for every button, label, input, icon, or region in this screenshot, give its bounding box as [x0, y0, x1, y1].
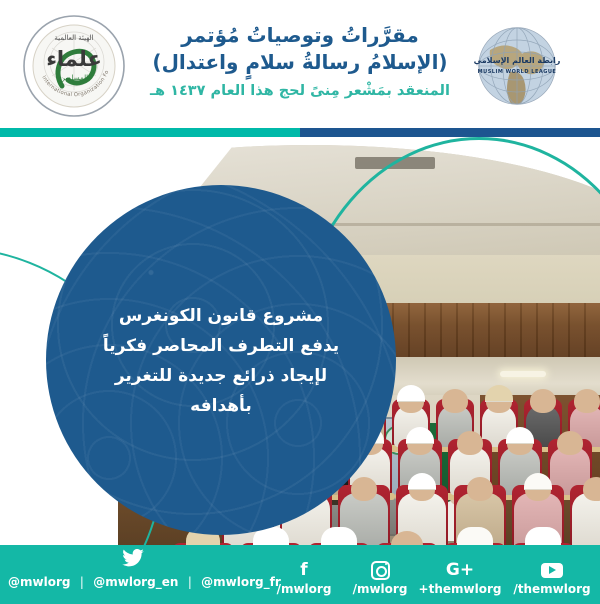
twitter-handle-en[interactable]: @mwlorg_en: [93, 575, 178, 589]
youtube-account[interactable]: /themwlorg: [506, 559, 598, 597]
attendee-head: [557, 431, 583, 455]
youtube-icon[interactable]: [506, 559, 598, 581]
header-subtitle: المنعقد بمَشْعر مِنىً لحج هذا العام ١٤٣٧…: [140, 80, 460, 102]
headline-text: مشروع قانون الكونغرس يدفع التطرف المحاصر…: [46, 301, 396, 421]
divider-blue-segment: [300, 128, 600, 137]
youtube-handle[interactable]: /themwlorg: [506, 581, 598, 597]
card-main-visual: واعتصموا بحبل: [0, 137, 600, 545]
attendee-cap: [457, 527, 493, 545]
attendee-head: [574, 389, 600, 413]
headline-line-4: بأهدافه: [72, 391, 370, 421]
attendee-cap: [485, 385, 513, 402]
attendee-head: [530, 389, 556, 413]
ceiling-lamp: [500, 371, 546, 377]
headline-line-1: مشروع قانون الكونغرس: [72, 301, 370, 331]
attendee-cap: [397, 385, 425, 402]
attendee-head: [457, 431, 483, 455]
headline-callout-circle: مشروع قانون الكونغرس يدفع التطرف المحاصر…: [46, 185, 396, 535]
mwl-arabic-name: رابطة العالم الإسلامي: [474, 56, 561, 65]
twitter-handle-ar[interactable]: @mwlorg: [8, 575, 70, 589]
divider-teal-segment: [0, 128, 300, 137]
instagram-account[interactable]: /mwlorg: [340, 559, 420, 597]
instagram-icon[interactable]: [340, 559, 420, 581]
twitter-bird-icon[interactable]: [120, 549, 146, 569]
svg-text:علماء: علماء: [46, 47, 102, 71]
instagram-handle[interactable]: /mwlorg: [340, 581, 420, 597]
attendee-head: [442, 389, 468, 413]
google-plus-account[interactable]: G+ +themwlorg: [412, 559, 508, 597]
muslim-world-league-logo: رابطة العالم الإسلامي MUSLIM WORLD LEAGU…: [470, 16, 570, 116]
international-organization-for-muslim-scholars-logo: علماء الهيئة العالمية المسلمين Internati…: [22, 14, 126, 118]
facebook-account[interactable]: f /mwlorg: [264, 559, 344, 597]
header-title-line-1: مقرَّراتُ وتوصياتُ مُؤتمر: [140, 22, 460, 49]
facebook-handle[interactable]: /mwlorg: [264, 581, 344, 597]
header-title-line-2: (الإسلامُ رسالةُ سلامٍ واعتدال): [140, 49, 460, 76]
attendee-cap: [525, 527, 561, 545]
card-footer: @mwlorg | @mwlorg_en | @mwlorg_fr f /mwl…: [0, 545, 600, 604]
handle-separator: |: [75, 575, 89, 589]
social-links-row: @mwlorg | @mwlorg_en | @mwlorg_fr f /mwl…: [0, 545, 600, 604]
headline-line-2: يدفع التطرف المحاصر فكرياً: [72, 331, 370, 361]
facebook-icon[interactable]: f: [264, 559, 344, 581]
header-divider-bar: [0, 128, 600, 137]
header-title-block: مقرَّراتُ وتوصياتُ مُؤتمر (الإسلامُ رسال…: [140, 22, 460, 102]
svg-text:المسلمين: المسلمين: [60, 74, 88, 82]
svg-text:الهيئة العالمية: الهيئة العالمية: [54, 34, 93, 42]
social-media-card: علماء الهيئة العالمية المسلمين Internati…: [0, 0, 600, 604]
google-plus-icon[interactable]: G+: [412, 559, 508, 581]
handle-separator: |: [183, 575, 197, 589]
google-plus-handle[interactable]: +themwlorg: [412, 581, 508, 597]
mwl-english-name: MUSLIM WORLD LEAGUE: [478, 69, 557, 75]
card-header: علماء الهيئة العالمية المسلمين Internati…: [0, 0, 600, 128]
attendee-head: [583, 477, 600, 501]
attendee: [572, 493, 600, 545]
twitter-handles[interactable]: @mwlorg | @mwlorg_en | @mwlorg_fr: [8, 575, 260, 589]
attendee-head: [467, 477, 493, 501]
headline-line-3: لإيجاد ذرائع جديدة للتغرير: [72, 361, 370, 391]
